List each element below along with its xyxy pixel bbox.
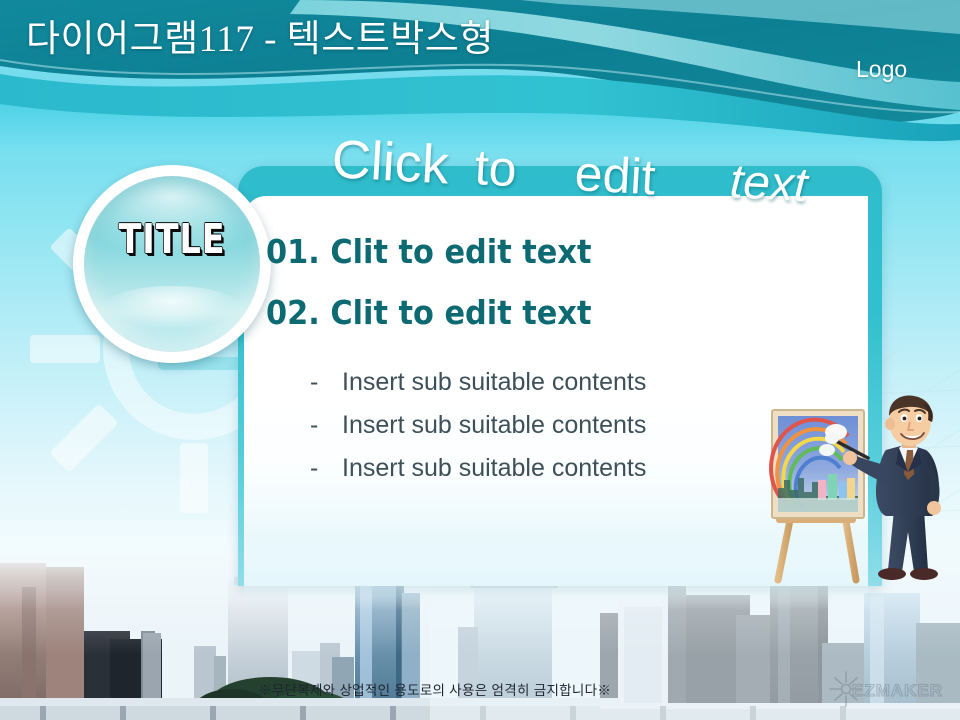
list-item[interactable]: - Insert sub suitable contents <box>310 454 830 483</box>
logo-placeholder[interactable]: Logo <box>856 56 907 83</box>
bullet-text: Insert sub suitable contents <box>342 368 646 397</box>
bullet-text: Insert sub suitable contents <box>342 454 646 483</box>
bullet-dash-icon: - <box>310 411 342 440</box>
list-item[interactable]: - Insert sub suitable contents <box>310 411 830 440</box>
headings-group: 01. Clit to edit text 02. Clit to edit t… <box>266 232 826 354</box>
ezmaker-watermark-icon: EZMAKER <box>824 668 956 708</box>
title-badge[interactable] <box>84 176 260 352</box>
ezmaker-wordmark: EZMAKER <box>852 681 943 700</box>
list-item[interactable]: - Insert sub suitable contents <box>310 368 830 397</box>
copyright-notice: ※무단복제와 상업적인 용도로의 사용은 엄격히 금지합니다※ <box>258 679 611 699</box>
slide-canvas: 다이어그램117 - 텍스트박스형 Logo Click to edit tex… <box>0 0 960 720</box>
title-badge-label: TITLE <box>100 215 244 263</box>
businessman-painting-illustration <box>756 392 960 592</box>
slide-title: 다이어그램117 - 텍스트박스형 <box>26 8 494 62</box>
bullet-dash-icon: - <box>310 454 342 483</box>
bullet-text: Insert sub suitable contents <box>342 411 646 440</box>
heading-02[interactable]: 02. Clit to edit text <box>266 293 781 332</box>
heading-01[interactable]: 01. Clit to edit text <box>266 232 781 271</box>
bullet-list: - Insert sub suitable contents - Insert … <box>310 368 830 497</box>
bullet-dash-icon: - <box>310 368 342 397</box>
